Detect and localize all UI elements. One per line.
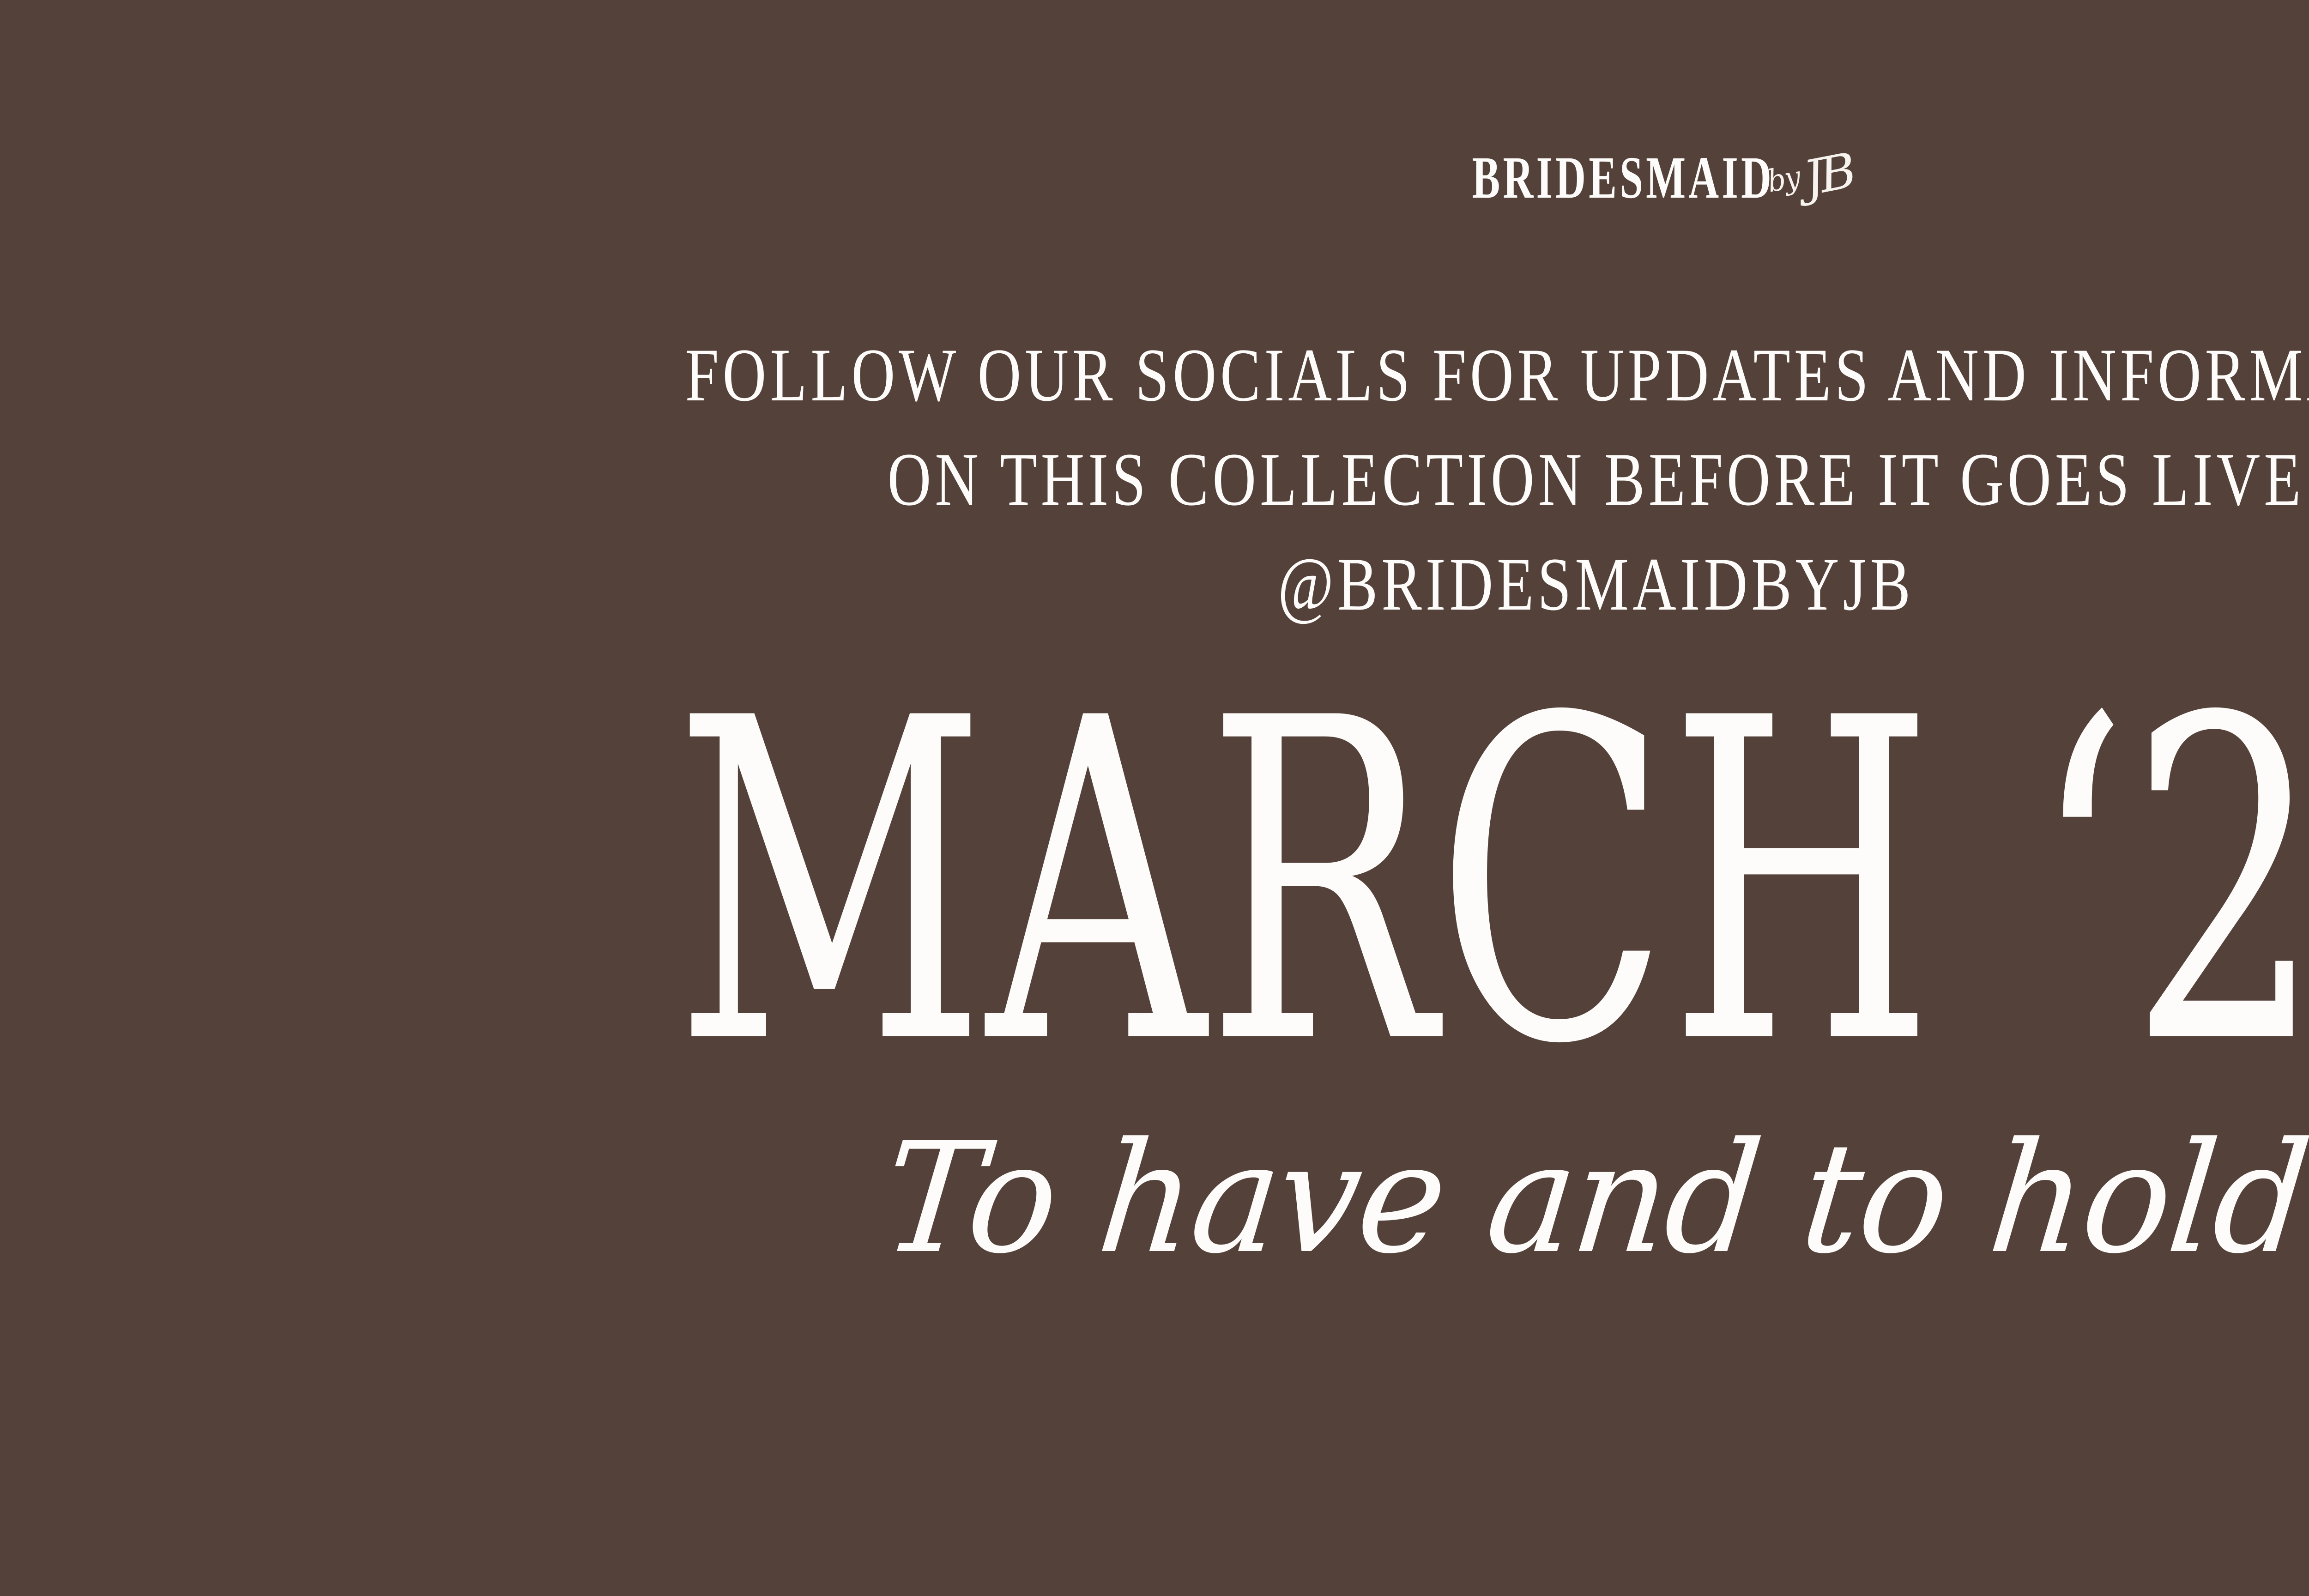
launch-date-headline: MARCH ‘26 [0,713,2309,1052]
announcement-line-1: FOLLOW OUR SOCIALS FOR UPDATES AND INFOR… [319,323,2309,428]
announcement-line-2: ON THIS COLLECTION BEFORE IT GOES LIVE [319,428,2309,532]
brand-name: BRIDESMAID [1472,148,1774,208]
promo-poster: BRIDESMAIDbyJB FOLLOW OUR SOCIALS FOR UP… [0,0,2309,1596]
launch-date-text: MARCH ‘26 [675,710,2309,1056]
brand-by-label: by [1765,162,1802,197]
brand-lockup: BRIDESMAIDbyJB [0,148,2309,208]
social-handle: @BRIDESMAIDBYJB [319,532,2309,637]
announcement-block: FOLLOW OUR SOCIALS FOR UPDATES AND INFOR… [0,323,2309,637]
brand-initials-signature: JB [1800,146,1856,203]
script-tagline: To have and to hold [0,1122,2309,1275]
script-tagline-text: To have and to hold [877,1122,2309,1275]
